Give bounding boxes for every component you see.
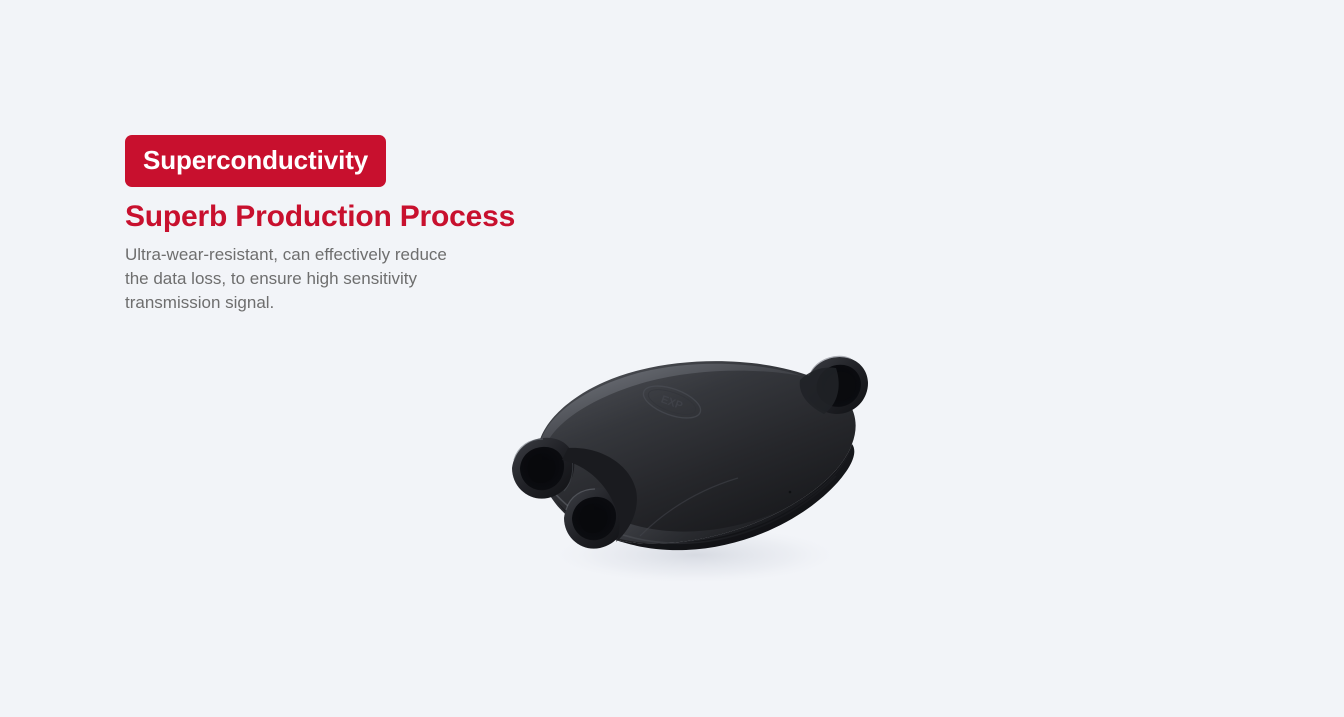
promo-banner: Superconductivity Superb Production Proc… bbox=[0, 0, 1344, 717]
description-text: Ultra-wear-resistant, can effectively re… bbox=[125, 243, 545, 315]
description-line-2: the data loss, to ensure high sensitivit… bbox=[125, 267, 545, 291]
surface-speck bbox=[789, 491, 792, 494]
description-line-3: transmission signal. bbox=[125, 291, 545, 315]
product-image: EXP bbox=[490, 340, 890, 590]
page-title: Superb Production Process bbox=[125, 200, 685, 234]
superconductivity-badge: Superconductivity bbox=[125, 135, 386, 187]
marketing-copy-block: Superconductivity Superb Production Proc… bbox=[125, 135, 685, 315]
description-line-1: Ultra-wear-resistant, can effectively re… bbox=[125, 243, 545, 267]
left-port-upper bbox=[512, 438, 574, 499]
product-illustration: EXP bbox=[490, 340, 890, 590]
